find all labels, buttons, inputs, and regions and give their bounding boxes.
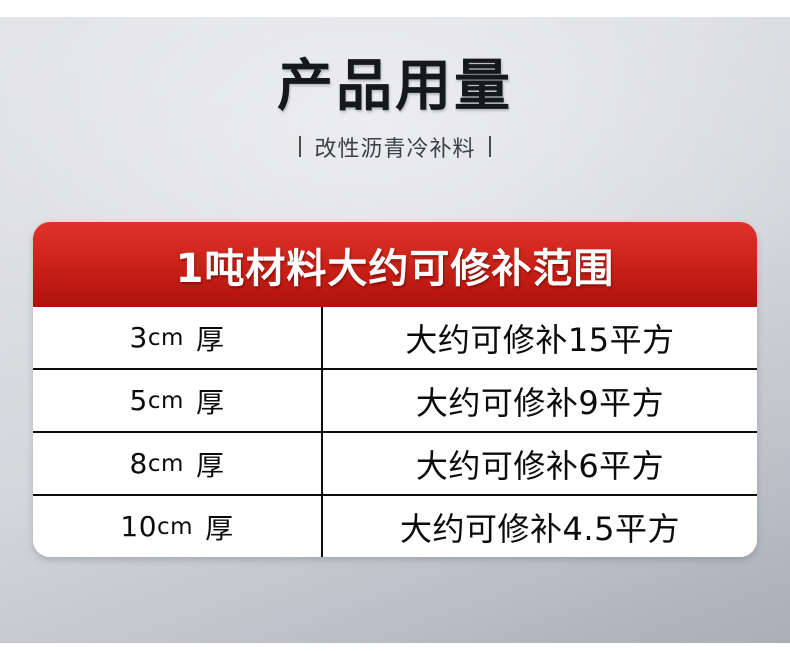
thickness-unit: cm — [148, 325, 184, 351]
coverage-cell: 大约可修补15平方 — [321, 307, 757, 368]
page-subtitle: 改性沥青冷补料 — [314, 131, 475, 163]
page-title: 产品用量 — [0, 58, 790, 117]
thickness-unit: cm — [157, 514, 193, 540]
thickness-cell: 8cm厚 — [33, 433, 321, 494]
top-white-band — [0, 0, 790, 17]
usage-table-header: 1吨材料大约可修补范围 — [33, 222, 757, 307]
product-usage-infographic: 产品用量 改性沥青冷补料 1吨材料大约可修补范围 3cm厚 大约可修补15平方 … — [0, 0, 790, 651]
thickness-label: 厚 — [196, 318, 225, 358]
thickness-label: 厚 — [205, 507, 234, 547]
coverage-cell: 大约可修补9平方 — [321, 370, 757, 431]
subtitle-left-divider-icon — [299, 136, 301, 157]
table-row: 8cm厚 大约可修补6平方 — [33, 431, 757, 494]
subtitle-row: 改性沥青冷补料 — [0, 131, 790, 163]
bottom-white-band — [0, 643, 790, 651]
usage-table-body: 3cm厚 大约可修补15平方 5cm厚 大约可修补9平方 8cm厚 大约可修补6… — [33, 307, 757, 557]
thickness-cell: 3cm厚 — [33, 307, 321, 368]
thickness-value: 10 — [120, 510, 157, 543]
thickness-cell: 10cm厚 — [33, 496, 321, 557]
subtitle-right-divider-icon — [489, 136, 491, 157]
usage-table-card: 1吨材料大约可修补范围 3cm厚 大约可修补15平方 5cm厚 大约可修补9平方… — [33, 222, 757, 557]
thickness-value: 3 — [130, 321, 148, 354]
thickness-value: 8 — [130, 447, 148, 480]
table-row: 5cm厚 大约可修补9平方 — [33, 368, 757, 431]
table-row: 10cm厚 大约可修补4.5平方 — [33, 494, 757, 557]
usage-table-header-label: 1吨材料大约可修补范围 — [176, 236, 615, 294]
thickness-cell: 5cm厚 — [33, 370, 321, 431]
coverage-cell: 大约可修补6平方 — [321, 433, 757, 494]
thickness-unit: cm — [148, 388, 184, 414]
coverage-cell: 大约可修补4.5平方 — [321, 496, 757, 557]
thickness-unit: cm — [148, 451, 184, 477]
table-row: 3cm厚 大约可修补15平方 — [33, 307, 757, 368]
thickness-label: 厚 — [196, 381, 225, 421]
header-block: 产品用量 改性沥青冷补料 — [0, 58, 790, 163]
thickness-label: 厚 — [196, 444, 225, 484]
thickness-value: 5 — [130, 384, 148, 417]
